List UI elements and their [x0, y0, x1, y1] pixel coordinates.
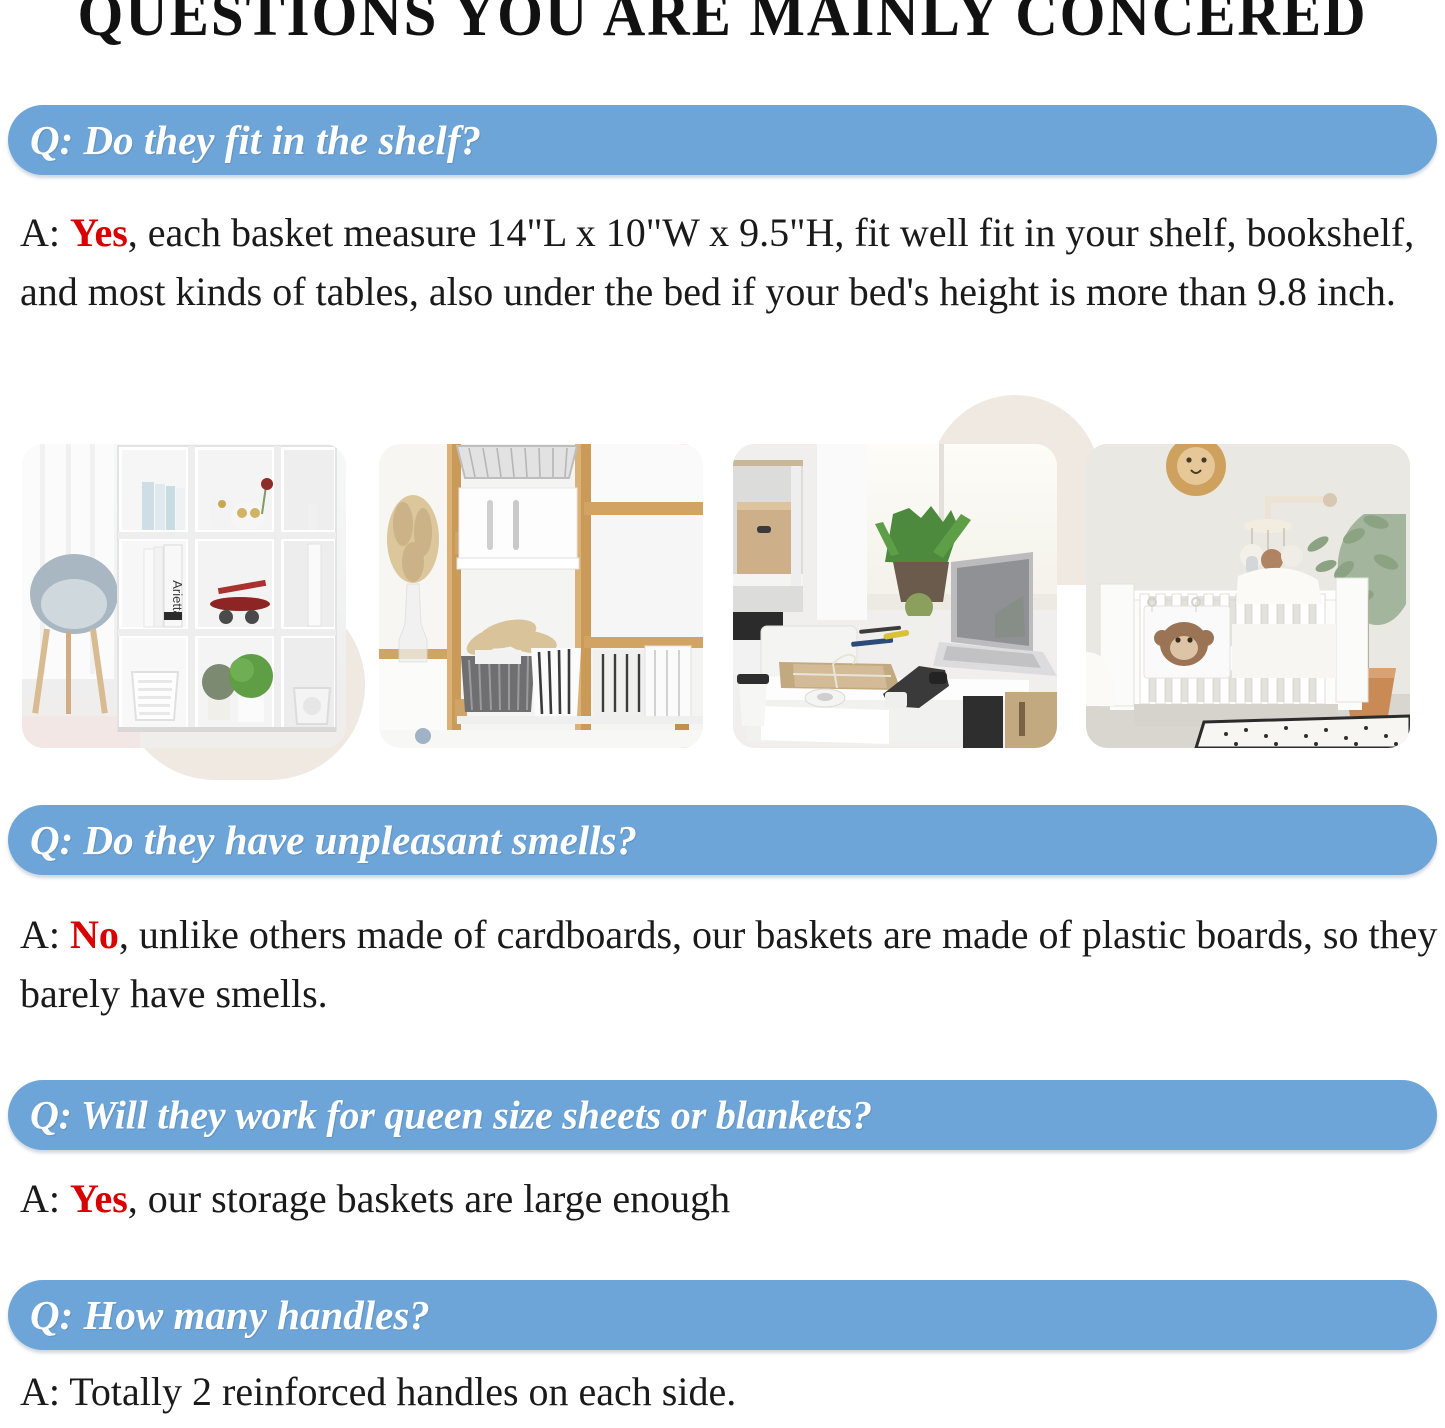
answer-highlight-3: Yes	[70, 1176, 128, 1221]
photo-nursery-crib	[1086, 444, 1410, 748]
question-text-3: Q: Will they work for queen size sheets …	[30, 1092, 872, 1139]
answer-highlight-2: No	[70, 912, 119, 957]
answer-text-1: A: Yes, each basket measure 14"L x 10"W …	[20, 203, 1440, 321]
answer-body-3: , our storage baskets are large enough	[128, 1176, 730, 1221]
answer-body-1: , each basket measure 14"L x 10"W x 9.5"…	[20, 210, 1414, 314]
question-banner-4: Q: How many handles?	[8, 1280, 1437, 1350]
question-banner-3: Q: Will they work for queen size sheets …	[8, 1080, 1437, 1150]
photo-gallery-row: Arietta	[0, 444, 1445, 748]
photo-office-desk	[733, 444, 1057, 748]
page-title: QUESTIONS YOU ARE MAINLY CONCERED	[36, 0, 1409, 46]
question-text-1: Q: Do they fit in the shelf?	[30, 116, 481, 164]
answer-prefix-3: A:	[20, 1176, 70, 1221]
question-banner-2: Q: Do they have unpleasant smells?	[8, 805, 1437, 875]
answer-highlight-1: Yes	[70, 210, 128, 255]
answer-body-4: Totally 2 reinforced handles on each sid…	[69, 1369, 736, 1414]
answer-prefix-2: A:	[20, 912, 70, 957]
question-banner-1: Q: Do they fit in the shelf?	[8, 105, 1437, 175]
question-text-2: Q: Do they have unpleasant smells?	[30, 816, 637, 864]
answer-body-2: , unlike others made of cardboards, our …	[20, 912, 1437, 1016]
answer-prefix-4: A:	[20, 1369, 69, 1414]
photo-bamboo-shelf-bins	[379, 444, 703, 748]
answer-text-2: A: No, unlike others made of cardboards,…	[20, 905, 1440, 1023]
question-text-4: Q: How many handles?	[30, 1291, 430, 1339]
answer-text-4: A: Totally 2 reinforced handles on each …	[20, 1362, 1440, 1421]
photo-shelf-living-room: Arietta	[22, 444, 346, 748]
answer-prefix-1: A:	[20, 210, 70, 255]
answer-text-3: A: Yes, our storage baskets are large en…	[20, 1169, 1440, 1228]
